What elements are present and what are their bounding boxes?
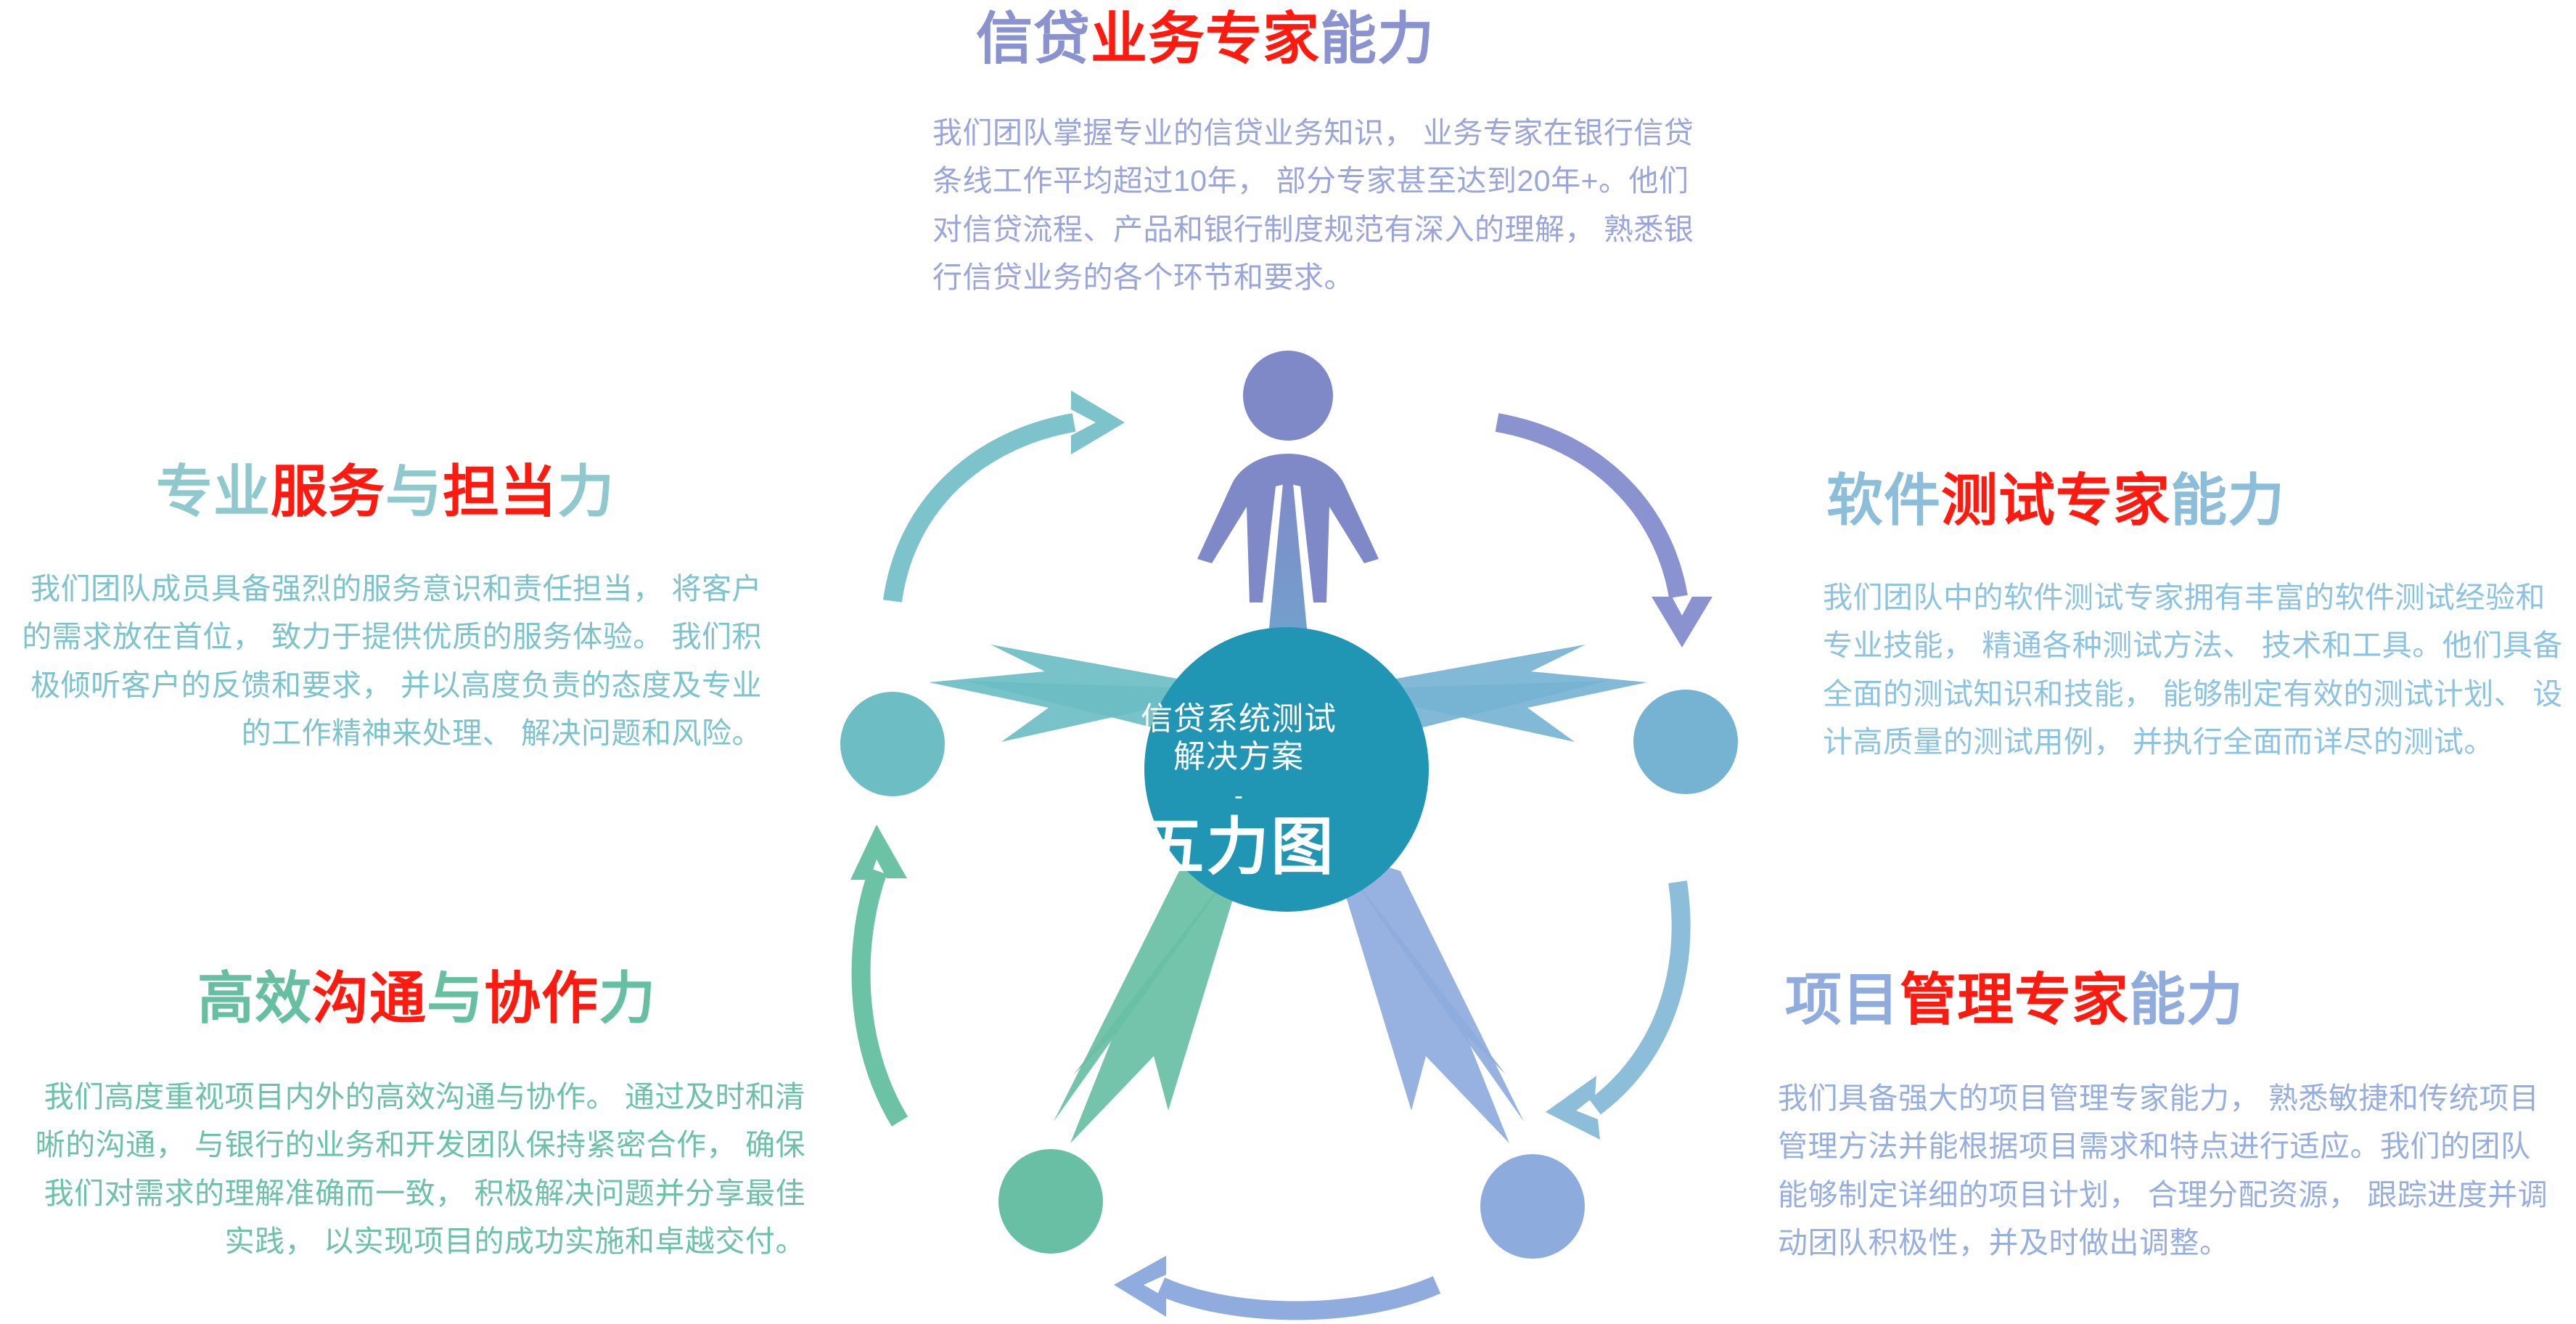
star-ray-bottom-right	[1332, 849, 1524, 1143]
heading-segment: 业务专家	[1091, 7, 1320, 70]
node-right[interactable]	[1633, 690, 1738, 794]
cycle-arrow-bottom	[1114, 1256, 1437, 1317]
cycle-arrow-right	[1546, 882, 1681, 1140]
heading-segment: 信贷	[976, 7, 1091, 70]
heading-project-management: 项目管理专家能力	[1785, 971, 2244, 1028]
heading-software-testing: 软件测试专家能力	[1826, 472, 2285, 528]
heading-service-responsibility: 专业服务与担当力	[156, 463, 615, 520]
heading-segment: 项目	[1785, 968, 1900, 1031]
heading-segment: 力	[599, 966, 656, 1030]
heading-segment: 协作	[484, 966, 599, 1030]
heading-segment: 能力	[2170, 468, 2285, 532]
heading-segment: 测试专家	[1941, 468, 2170, 532]
heading-segment: 管理专家	[1900, 968, 2129, 1031]
body-project-management: 我们具备强大的项目管理专家能力， 熟悉敏捷和传统项目管理方法并能根据项目需求和特…	[1778, 1074, 2554, 1267]
cycle-arrow-left	[850, 825, 907, 1121]
body-credit-business: 我们团队掌握专业的信贷业务知识， 业务专家在银行信贷条线工作平均超过10年， 部…	[932, 109, 1705, 302]
body-software-testing: 我们团队中的软件测试专家拥有丰富的软件测试经验和专业技能， 精通各种测试方法、 …	[1823, 573, 2570, 767]
cycle-arrow-top-left	[893, 391, 1125, 601]
node-bottom-right[interactable]	[1480, 1154, 1585, 1259]
heading-segment: 力	[557, 459, 615, 523]
cycle-arrow-top-right	[1497, 422, 1712, 647]
heading-segment: 能力	[2129, 968, 2244, 1031]
heading-segment: 软件	[1826, 468, 1941, 532]
body-communication-collaboration: 我们高度重视项目内外的高效沟通与协作。 通过及时和清晰的沟通， 与银行的业务和开…	[33, 1073, 805, 1266]
heading-segment: 高效	[197, 966, 312, 1030]
five-forces-diagram	[784, 341, 1792, 1324]
heading-segment: 沟通	[312, 966, 427, 1030]
heading-communication-collaboration: 高效沟通与协作力	[197, 970, 656, 1026]
heading-segment: 专业	[156, 459, 271, 523]
heading-segment: 服务	[271, 459, 385, 523]
heading-segment: 担当	[443, 459, 557, 523]
infographic-canvas: 信贷业务专家能力 我们团队掌握专业的信贷业务知识， 业务专家在银行信贷条线工作平…	[0, 0, 2576, 1324]
node-left[interactable]	[840, 692, 945, 796]
body-service-responsibility: 我们团队成员具备强烈的服务意识和责任担当， 将客户的需求放在首位， 致力于提供优…	[4, 565, 762, 758]
heading-segment: 与	[427, 966, 484, 1030]
heading-credit-business: 信贷业务专家能力	[976, 10, 1435, 67]
center-circle[interactable]	[1144, 627, 1429, 912]
node-bottom-left[interactable]	[998, 1149, 1103, 1254]
heading-segment: 与	[385, 459, 443, 523]
heading-segment: 能力	[1320, 7, 1435, 70]
